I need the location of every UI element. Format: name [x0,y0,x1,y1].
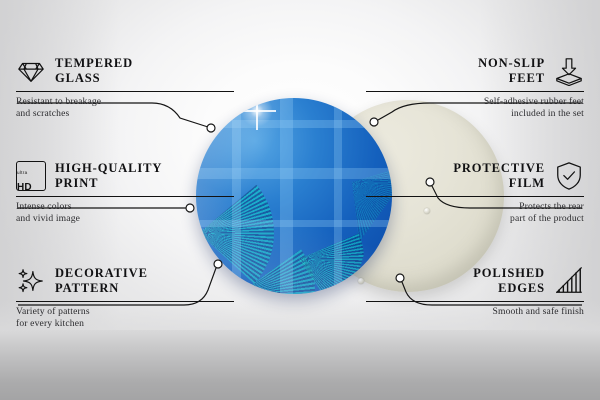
feature-header: POLISHED EDGES [366,266,584,297]
feature-divider [366,91,584,92]
press-down-pad-icon [554,56,584,86]
ultra-hd-icon-main-text: HD [17,182,32,193]
diamond-icon [16,56,46,86]
feature-header: DECORATIVE PATTERN [16,266,234,297]
feature-description: Intense colors and vivid image [16,201,234,226]
feature-description: Resistant to breakage and scratches [16,96,234,121]
feature-description: Protects the rear part of the product [366,201,584,226]
feature-description: Variety of patterns for every kitchen [16,306,234,331]
feature-title: POLISHED EDGES [473,266,545,297]
ultra-hd-icon-top-text: ultra [17,170,27,175]
feature-high-quality-print[interactable]: ultra HD HIGH-QUALITY PRINT Intense colo… [16,161,234,226]
feature-decorative-pattern[interactable]: DECORATIVE PATTERN Variety of patterns f… [16,266,234,331]
feature-divider [16,91,234,92]
feature-description: Self-adhesive rubber feet included in th… [366,96,584,121]
feature-title: DECORATIVE PATTERN [55,266,148,297]
hatched-triangle-icon [554,266,584,296]
shield-check-icon [554,161,584,191]
feature-header: NON-SLIP FEET [366,56,584,87]
feature-protective-film[interactable]: PROTECTIVE FILM Protects the rear part o… [366,161,584,226]
feature-header: TEMPERED GLASS [16,56,234,87]
feature-title: HIGH-QUALITY PRINT [55,161,162,192]
feature-divider [366,301,584,302]
feature-polished-edges[interactable]: POLISHED EDGES Smooth and safe finish [366,266,584,318]
feature-description: Smooth and safe finish [366,306,584,319]
infographic-canvas: TEMPERED GLASS Resistant to breakage and… [0,0,600,400]
ultra-hd-icon: ultra HD [16,161,46,191]
feature-title: PROTECTIVE FILM [453,161,545,192]
feature-divider [16,196,234,197]
feature-divider [366,196,584,197]
feature-header: ultra HD HIGH-QUALITY PRINT [16,161,234,192]
feature-non-slip-feet[interactable]: NON-SLIP FEET Self-adhesive rubber feet … [366,56,584,121]
feature-header: PROTECTIVE FILM [366,161,584,192]
feature-divider [16,301,234,302]
feature-tempered-glass[interactable]: TEMPERED GLASS Resistant to breakage and… [16,56,234,121]
sparkle-icon [16,266,46,296]
feature-title: TEMPERED GLASS [55,56,133,87]
feature-title: NON-SLIP FEET [478,56,545,87]
specular-glint [240,98,274,128]
